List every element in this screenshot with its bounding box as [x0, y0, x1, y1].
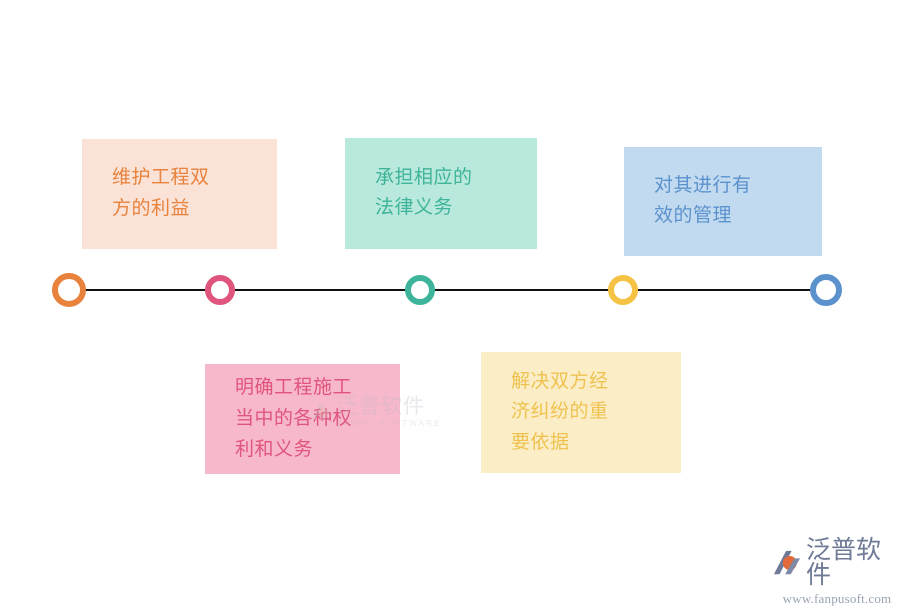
timeline-box-4-label: 明确工程施工 当中的各种权 利和义务 [235, 373, 352, 465]
brand-logo-cn: 泛普软件 [806, 538, 900, 588]
timeline-node-1[interactable] [52, 273, 86, 307]
timeline-box-5-label: 解决双方经 济纠纷的重 要依据 [511, 366, 609, 458]
timeline-axis-line [69, 289, 826, 291]
timeline-box-1-label: 维护工程双 方的利益 [112, 163, 210, 225]
timeline-node-3[interactable] [405, 275, 435, 305]
timeline-box-2[interactable]: 承担相应的 法律义务 [345, 138, 537, 249]
timeline-node-5[interactable] [810, 274, 842, 306]
timeline-box-5[interactable]: 解决双方经 济纠纷的重 要依据 [481, 352, 681, 473]
timeline-box-3-label: 对其进行有 效的管理 [654, 171, 752, 233]
timeline-box-1[interactable]: 维护工程双 方的利益 [82, 139, 277, 249]
timeline-node-4[interactable] [608, 275, 638, 305]
timeline-box-4[interactable]: 明确工程施工 当中的各种权 利和义务 [205, 364, 400, 474]
diagram-canvas: 维护工程双 方的利益 承担相应的 法律义务 对其进行有 效的管理 明确工程施工 … [0, 0, 900, 600]
timeline-box-2-label: 承担相应的 法律义务 [375, 163, 473, 225]
timeline-box-3[interactable]: 对其进行有 效的管理 [624, 147, 822, 256]
brand-logo[interactable]: 泛普软件 www.fanpusoft.com [772, 538, 900, 607]
brand-logo-row: 泛普软件 [772, 538, 900, 588]
timeline-node-2[interactable] [205, 275, 235, 305]
brand-logo-url[interactable]: www.fanpusoft.com [783, 591, 892, 607]
fanpu-logo-icon [772, 549, 802, 577]
